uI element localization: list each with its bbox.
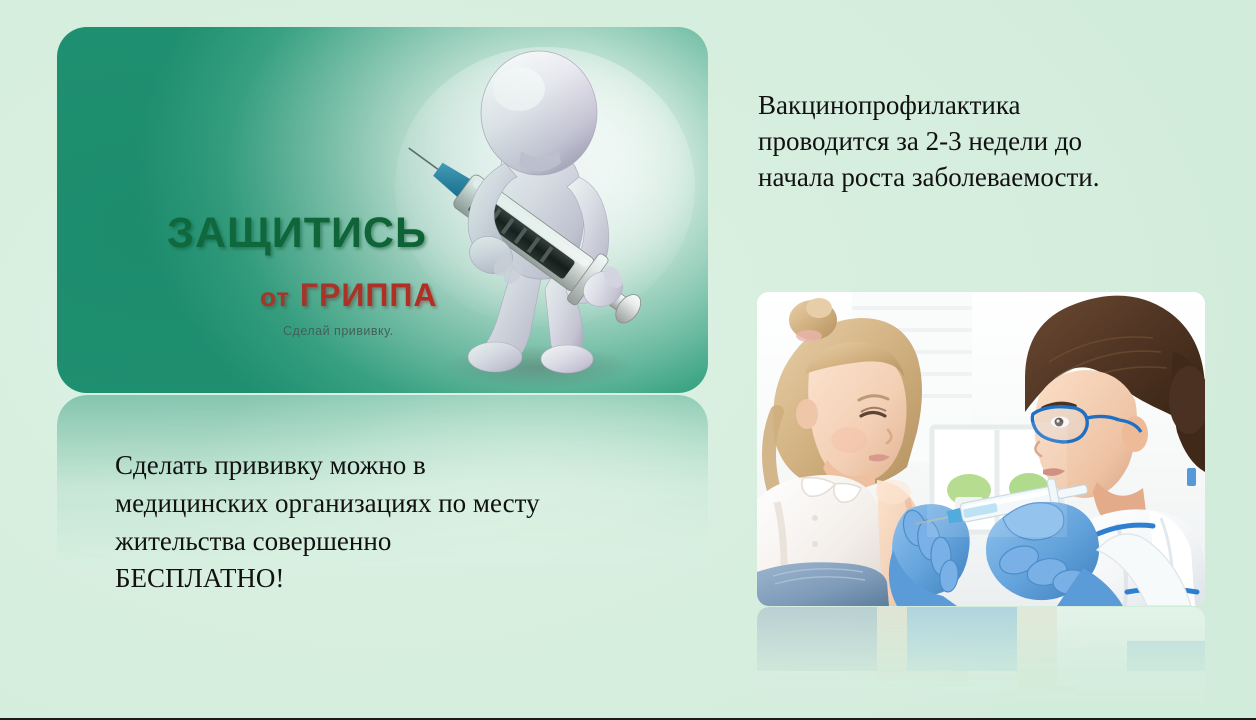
top-right-line-2: проводится за 2-3 недели до: [758, 124, 1198, 160]
bottom-left-line-4: БЕСПЛАТНО!: [115, 560, 655, 598]
bottom-left-line-2: медицинских организациях по месту: [115, 485, 655, 523]
bottom-left-line-1: Сделать прививку можно в: [115, 447, 655, 485]
poster-subline: от ГРИППА: [260, 277, 437, 314]
top-right-line-3: начала роста заболеваемости.: [758, 160, 1198, 196]
poster-headline: ЗАЩИТИСЬ: [167, 209, 427, 258]
text-block-bottom-left: Сделать прививку можно в медицинских орг…: [115, 447, 655, 598]
photo-reflection: [757, 607, 1205, 717]
poster-tagline: Сделай прививку.: [283, 324, 394, 338]
poster-subline-small: от: [260, 282, 290, 312]
presentation-slide: ЗАЩИТИСЬ от ГРИППА Сделай прививку.: [0, 0, 1256, 720]
bottom-left-line-3: жительства совершенно: [115, 523, 655, 561]
text-block-top-right: Вакцинопрофилактика проводится за 2-3 не…: [758, 88, 1198, 196]
top-right-line-1: Вакцинопрофилактика: [758, 88, 1198, 124]
flu-poster-image: ЗАЩИТИСЬ от ГРИППА Сделай прививку.: [57, 27, 708, 393]
poster-subline-big: ГРИППА: [300, 277, 438, 313]
vaccination-photo: [757, 292, 1205, 606]
